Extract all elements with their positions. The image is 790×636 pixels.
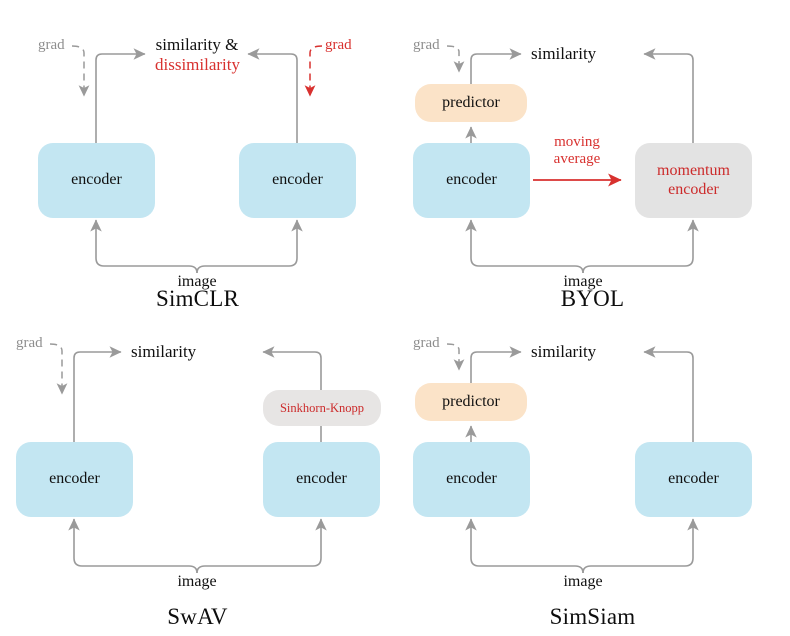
label-image: image (168, 572, 226, 591)
node-encoder-left[interactable]: encoder (413, 143, 530, 218)
panel-byol: predictor encoder momentum encoder grad … (395, 0, 790, 318)
self-supervised-methods-figure: encoder encoder grad grad similarity & d… (0, 0, 790, 636)
node-encoder-left[interactable]: encoder (38, 143, 155, 218)
panel-swav: encoder encoder Sinkhorn-Knopp grad simi… (0, 318, 395, 636)
panel-simsiam: predictor encoder encoder grad similarit… (395, 318, 790, 636)
label-objective: similarity & dissimilarity (155, 35, 239, 76)
panel-title-byol: BYOL (395, 286, 790, 312)
label-objective: similarity (531, 342, 596, 362)
label-objective: similarity (131, 342, 196, 362)
panel-title-swav: SwAV (0, 604, 395, 630)
label-grad-right: grad (325, 36, 352, 54)
label-objective-line2: dissimilarity (155, 55, 239, 75)
node-predictor[interactable]: predictor (415, 84, 527, 122)
panel-title-simsiam: SimSiam (395, 604, 790, 630)
label-grad-left: grad (413, 334, 440, 352)
node-encoder-left[interactable]: encoder (413, 442, 530, 517)
moving-line1: moving (554, 134, 600, 150)
node-sinkhorn-knopp[interactable]: Sinkhorn-Knopp (263, 390, 381, 426)
label-objective-line1: similarity & (156, 35, 239, 54)
node-momentum-encoder[interactable]: momentum encoder (635, 143, 752, 218)
node-encoder-right[interactable]: encoder (635, 442, 752, 517)
label-grad-left: grad (413, 36, 440, 54)
panel-simclr: encoder encoder grad grad similarity & d… (0, 0, 395, 318)
node-encoder-left[interactable]: encoder (16, 442, 133, 517)
panel-title-simclr: SimCLR (0, 286, 395, 312)
momentum-line2: encoder (668, 181, 719, 198)
label-image: image (554, 572, 612, 591)
label-moving-average: moving average (535, 134, 619, 169)
node-encoder-right[interactable]: encoder (263, 442, 380, 517)
node-encoder-right[interactable]: encoder (239, 143, 356, 218)
label-grad-left: grad (38, 36, 65, 54)
label-objective: similarity (531, 44, 596, 64)
momentum-line1: momentum (657, 162, 730, 179)
moving-line2: average (554, 151, 601, 167)
node-predictor[interactable]: predictor (415, 383, 527, 421)
label-grad-left: grad (16, 334, 43, 352)
